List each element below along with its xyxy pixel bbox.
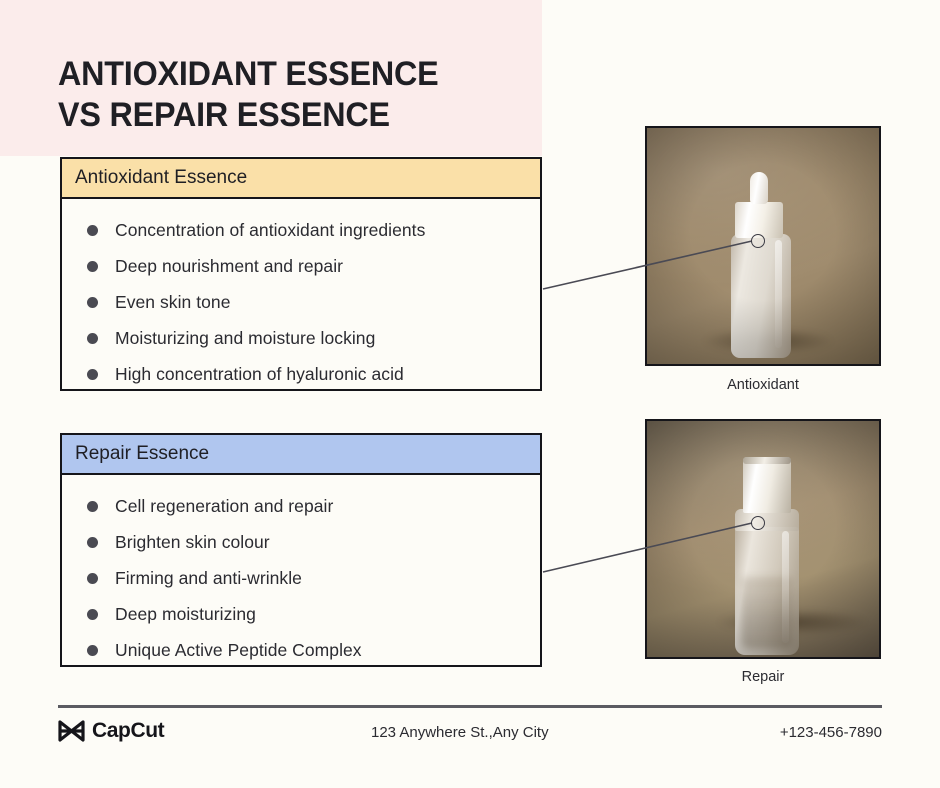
- comparison-card-repair: Repair Essence Cell regeneration and rep…: [60, 433, 542, 667]
- photo-caption-antioxidant: Antioxidant: [645, 377, 881, 393]
- bullet-dot-icon: [87, 609, 98, 620]
- bullet-dot-icon: [87, 501, 98, 512]
- list-item: Deep moisturizing: [62, 596, 540, 632]
- bullet-list-antioxidant: Concentration of antioxidant ingredients…: [62, 199, 540, 392]
- photo-vignette: [647, 128, 879, 364]
- callout-marker-antioxidant: [751, 234, 765, 248]
- brand-logo: CapCut: [58, 719, 164, 743]
- page-title: ANTIOXIDANT ESSENCE VS REPAIR ESSENCE: [58, 54, 438, 136]
- bullet-dot-icon: [87, 573, 98, 584]
- bullet-list-repair: Cell regeneration and repair Brighten sk…: [62, 475, 540, 668]
- bullet-dot-icon: [87, 225, 98, 236]
- list-item: Moisturizing and moisture locking: [62, 320, 540, 356]
- list-item: Deep nourishment and repair: [62, 248, 540, 284]
- bullet-dot-icon: [87, 537, 98, 548]
- bullet-label: Concentration of antioxidant ingredients: [115, 220, 425, 241]
- comparison-card-antioxidant: Antioxidant Essence Concentration of ant…: [60, 157, 542, 391]
- list-item: Concentration of antioxidant ingredients: [62, 212, 540, 248]
- list-item: Unique Active Peptide Complex: [62, 632, 540, 668]
- bullet-dot-icon: [87, 645, 98, 656]
- bullet-label: Moisturizing and moisture locking: [115, 328, 375, 349]
- infographic-page: ANTIOXIDANT ESSENCE VS REPAIR ESSENCE An…: [0, 0, 940, 788]
- bullet-label: Even skin tone: [115, 292, 231, 313]
- list-item: Even skin tone: [62, 284, 540, 320]
- bullet-label: Deep moisturizing: [115, 604, 256, 625]
- bullet-dot-icon: [87, 261, 98, 272]
- capcut-bowtie-icon: [58, 720, 85, 742]
- card-header-antioxidant: Antioxidant Essence: [62, 159, 540, 199]
- product-photo-repair: [645, 419, 881, 659]
- footer-divider: [58, 705, 882, 708]
- bullet-label: Firming and anti-wrinkle: [115, 568, 302, 589]
- bullet-label: Unique Active Peptide Complex: [115, 640, 362, 661]
- list-item: Cell regeneration and repair: [62, 488, 540, 524]
- bullet-label: Brighten skin colour: [115, 532, 270, 553]
- bullet-dot-icon: [87, 333, 98, 344]
- product-photo-antioxidant: [645, 126, 881, 366]
- bullet-dot-icon: [87, 297, 98, 308]
- brand-name: CapCut: [92, 719, 164, 743]
- callout-marker-repair: [751, 516, 765, 530]
- bullet-label: High concentration of hyaluronic acid: [115, 364, 404, 385]
- bullet-dot-icon: [87, 369, 98, 380]
- footer-phone: +123-456-7890: [780, 724, 882, 741]
- bullet-label: Deep nourishment and repair: [115, 256, 343, 277]
- photo-vignette: [647, 421, 879, 657]
- bullet-label: Cell regeneration and repair: [115, 496, 333, 517]
- card-header-repair: Repair Essence: [62, 435, 540, 475]
- photo-caption-repair: Repair: [645, 669, 881, 685]
- title-block: ANTIOXIDANT ESSENCE VS REPAIR ESSENCE: [0, 0, 542, 156]
- list-item: High concentration of hyaluronic acid: [62, 356, 540, 392]
- list-item: Firming and anti-wrinkle: [62, 560, 540, 596]
- footer-address: 123 Anywhere St.,Any City: [371, 724, 549, 741]
- list-item: Brighten skin colour: [62, 524, 540, 560]
